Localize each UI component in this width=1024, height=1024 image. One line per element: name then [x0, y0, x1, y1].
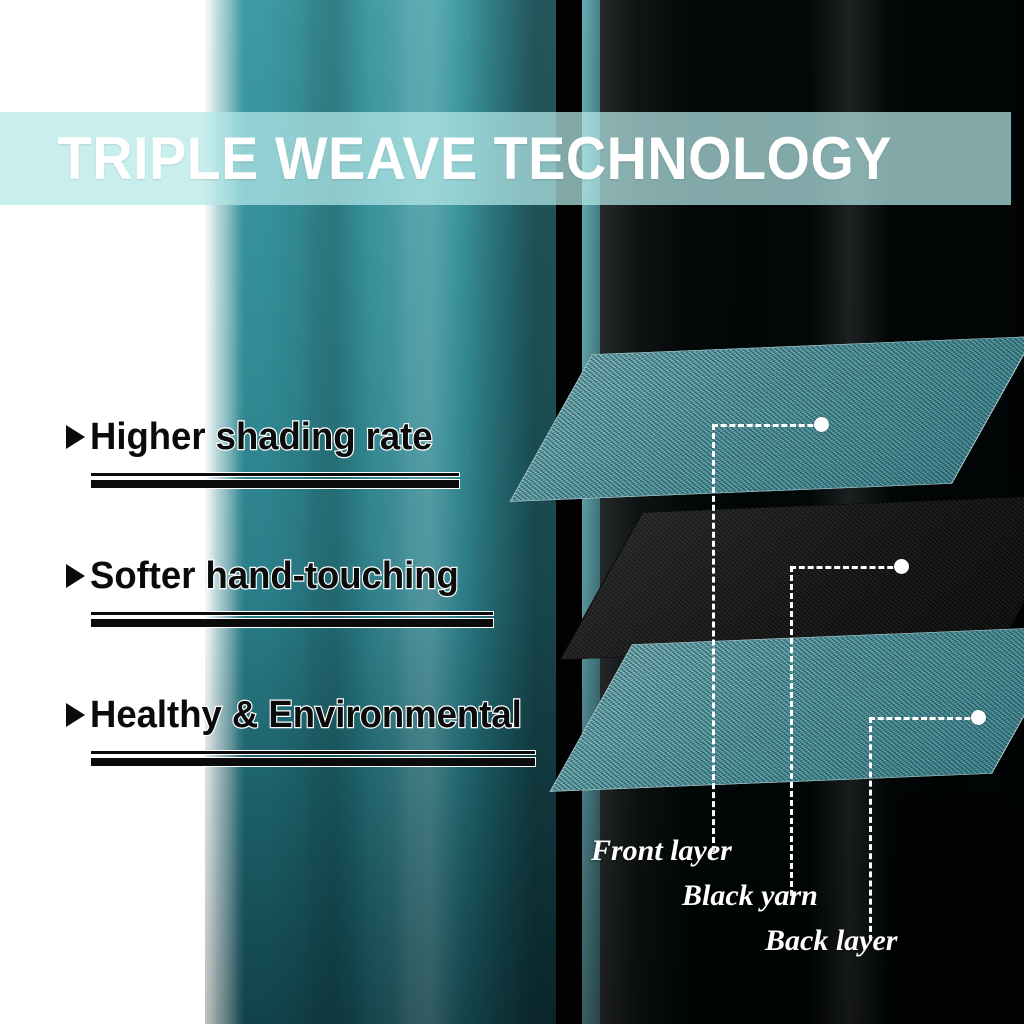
layer-label-back: Back layer [765, 926, 897, 956]
callout-leader-black-vertical [790, 566, 793, 896]
feature-underline [90, 750, 536, 767]
underline-thin-rule [90, 611, 494, 616]
underline-thick-rule [90, 757, 536, 767]
underline-thick-rule [90, 479, 460, 489]
layer-label-black-yarn: Black yarn [682, 881, 818, 911]
underline-thin-rule [90, 472, 460, 477]
feature-underline [90, 611, 494, 628]
callout-leader-back-horizontal [869, 717, 979, 720]
callout-dot-back [971, 710, 986, 725]
callout-leader-front-vertical [712, 424, 715, 852]
title-banner: TRIPLE WEAVE TECHNOLOGY [0, 112, 1011, 205]
callout-dot-front [814, 417, 829, 432]
underline-thick-rule [90, 618, 494, 628]
feature-item-softer-hand-touching: Softer hand-touching [66, 549, 586, 628]
feature-underline [90, 472, 460, 489]
feature-list: Higher shading rate Softer hand-touching… [66, 410, 586, 767]
fabric-layer-front [510, 336, 1024, 502]
feature-item-higher-shading-rate: Higher shading rate [66, 410, 586, 489]
feature-label: Higher shading rate [90, 418, 433, 456]
infographic-canvas: TRIPLE WEAVE TECHNOLOGY Higher shading r… [0, 0, 1024, 1024]
feature-label: Healthy & Environmental [90, 696, 522, 734]
page-title: TRIPLE WEAVE TECHNOLOGY [0, 129, 892, 189]
triangle-right-icon [66, 425, 85, 449]
layer-label-front: Front layer [591, 836, 732, 866]
triangle-right-icon [66, 703, 85, 727]
triangle-right-icon [66, 564, 85, 588]
callout-leader-front-horizontal [712, 424, 822, 427]
callout-dot-black-yarn [894, 559, 909, 574]
feature-label: Softer hand-touching [90, 557, 459, 595]
callout-leader-back-vertical [869, 717, 872, 941]
callout-leader-black-horizontal [790, 566, 902, 569]
underline-thin-rule [90, 750, 536, 755]
feature-item-healthy-environmental: Healthy & Environmental [66, 688, 586, 767]
